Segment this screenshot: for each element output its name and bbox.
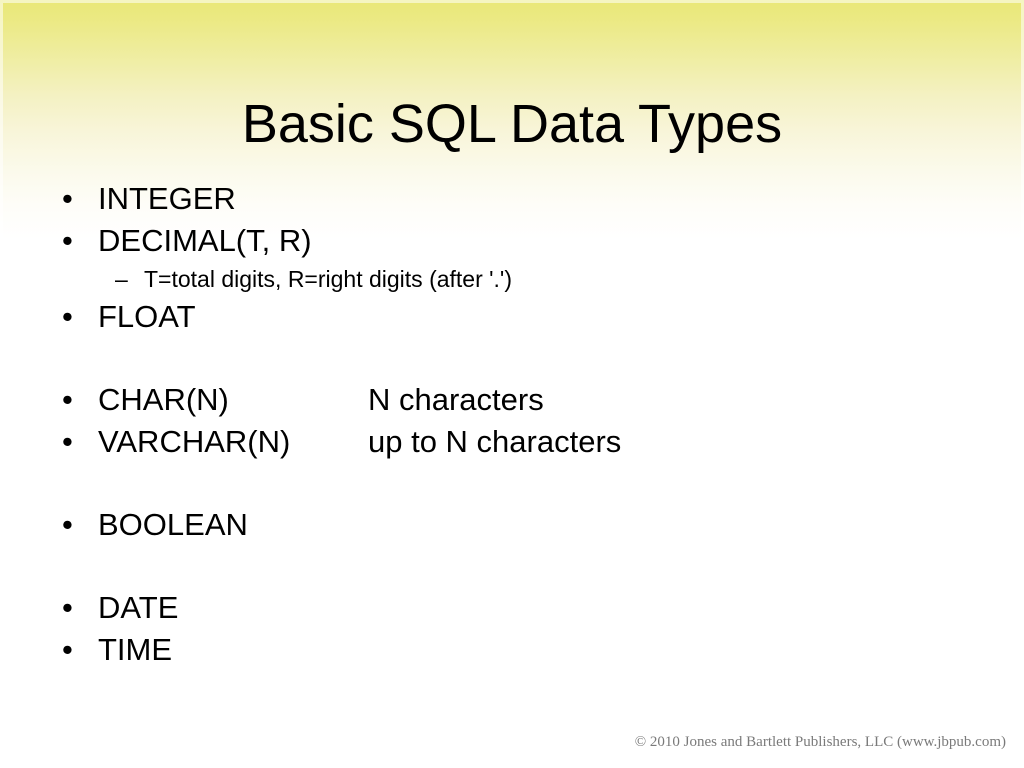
bullet-item: •TIME bbox=[0, 629, 1024, 671]
bullet-spacer bbox=[0, 338, 1024, 379]
bullet-marker-icon: • bbox=[62, 629, 84, 671]
bullet-label: T=total digits, R=right digits (after '.… bbox=[144, 262, 512, 296]
slide: Basic SQL Data Types •INTEGER•DECIMAL(T,… bbox=[0, 0, 1024, 768]
bullet-item: •FLOAT bbox=[0, 296, 1024, 338]
bullet-marker-icon: • bbox=[62, 379, 84, 421]
bullet-item: •DECIMAL(T, R) bbox=[0, 220, 1024, 262]
bullet-label: BOOLEAN bbox=[98, 504, 248, 546]
bullet-marker-icon: • bbox=[62, 421, 84, 463]
bullet-label: TIME bbox=[98, 629, 172, 671]
bullet-item: •CHAR(N)N characters bbox=[0, 379, 1024, 421]
bullet-label: INTEGER bbox=[98, 178, 236, 220]
bullet-item: •DATE bbox=[0, 587, 1024, 629]
bullet-item: •INTEGER bbox=[0, 178, 1024, 220]
bullet-spacer bbox=[0, 463, 1024, 504]
bullet-label: VARCHAR(N) bbox=[98, 421, 290, 463]
footer-copyright: © 2010 Jones and Bartlett Publishers, LL… bbox=[0, 732, 1024, 752]
dash-marker-icon: – bbox=[115, 262, 137, 296]
bullet-label: FLOAT bbox=[98, 296, 196, 338]
bullet-marker-icon: • bbox=[62, 504, 84, 546]
bullet-item: •VARCHAR(N)up to N characters bbox=[0, 421, 1024, 463]
bullet-spacer bbox=[0, 546, 1024, 587]
bullet-label: CHAR(N) bbox=[98, 379, 229, 421]
bullet-marker-icon: • bbox=[62, 296, 84, 338]
page-title: Basic SQL Data Types bbox=[0, 93, 1024, 155]
sub-bullet-item: –T=total digits, R=right digits (after '… bbox=[0, 262, 1024, 296]
bullet-item: •BOOLEAN bbox=[0, 504, 1024, 546]
bullet-description: N characters bbox=[368, 379, 544, 421]
bullet-description: up to N characters bbox=[368, 421, 621, 463]
bullet-marker-icon: • bbox=[62, 178, 84, 220]
bullet-label: DATE bbox=[98, 587, 178, 629]
bullet-marker-icon: • bbox=[62, 220, 84, 262]
slide-body-content: •INTEGER•DECIMAL(T, R)–T=total digits, R… bbox=[0, 178, 1024, 671]
bullet-label: DECIMAL(T, R) bbox=[98, 220, 312, 262]
bullet-marker-icon: • bbox=[62, 587, 84, 629]
